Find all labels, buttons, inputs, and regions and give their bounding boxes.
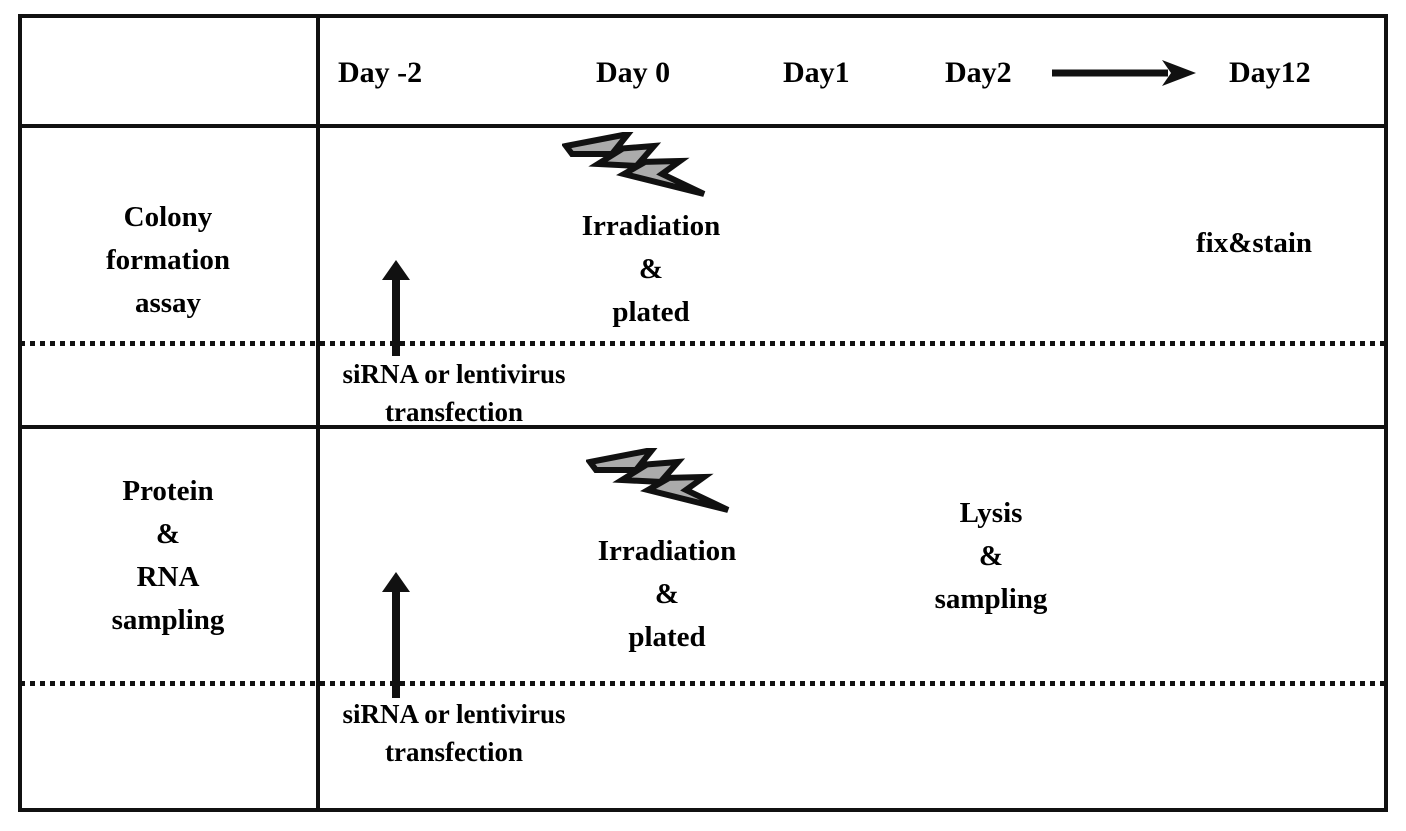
row-divider-rule <box>18 425 1388 429</box>
event-transfection-row1: siRNA or lentivirus transfection <box>318 355 590 432</box>
dotted-separator-row1 <box>20 341 1386 346</box>
diagram-canvas: Day -2 Day 0 Day1 Day2 Day12 Colony form… <box>0 0 1406 831</box>
row1-irradiation-line2: & <box>540 248 762 291</box>
row-label-protein-rna-sampling: Protein & RNA sampling <box>22 470 314 642</box>
row2-lysis-line2: & <box>888 535 1094 578</box>
event-transfection-row2: siRNA or lentivirus transfection <box>318 695 590 772</box>
row1-label-line3: assay <box>22 282 314 325</box>
timeline-header-day-minus2: Day -2 <box>338 58 422 88</box>
row2-transfection-line1: siRNA or lentivirus <box>318 695 590 733</box>
lightning-bolt-icon-row1 <box>562 132 720 200</box>
timeline-header-day-2: Day2 <box>945 58 1012 88</box>
header-bottom-rule <box>18 124 1388 128</box>
dotted-separator-row2 <box>20 681 1386 686</box>
timeline-header-day-12: Day12 <box>1229 58 1311 88</box>
event-irradiation-row2: Irradiation & plated <box>556 530 778 659</box>
timeline-header-day-0: Day 0 <box>596 58 670 88</box>
up-arrow-icon-row1 <box>379 260 413 356</box>
row2-irradiation-line2: & <box>556 573 778 616</box>
row2-label-line4: sampling <box>22 599 314 642</box>
row1-transfection-line2: transfection <box>318 393 590 431</box>
row1-irradiation-line3: plated <box>540 291 762 334</box>
event-irradiation-row1: Irradiation & plated <box>540 205 762 334</box>
timeline-header-day-1: Day1 <box>783 58 850 88</box>
row2-label-line1: Protein <box>22 470 314 513</box>
row-label-colony-formation-assay: Colony formation assay <box>22 196 314 325</box>
row2-lysis-line3: sampling <box>888 578 1094 621</box>
row2-label-line3: RNA <box>22 556 314 599</box>
lightning-bolt-icon-row2 <box>586 448 744 516</box>
row1-label-line2: formation <box>22 239 314 282</box>
event-lysis-sampling: Lysis & sampling <box>888 492 1094 621</box>
row2-transfection-line2: transfection <box>318 733 590 771</box>
row1-label-line1: Colony <box>22 196 314 239</box>
row2-irradiation-line3: plated <box>556 616 778 659</box>
right-arrow-icon <box>1050 56 1198 90</box>
row1-irradiation-line1: Irradiation <box>540 205 762 248</box>
row2-irradiation-line1: Irradiation <box>556 530 778 573</box>
up-arrow-icon-row2 <box>379 572 413 698</box>
row2-lysis-line1: Lysis <box>888 492 1094 535</box>
row2-label-line2: & <box>22 513 314 556</box>
row1-transfection-line1: siRNA or lentivirus <box>318 355 590 393</box>
event-fix-and-stain: fix&stain <box>1196 222 1386 265</box>
